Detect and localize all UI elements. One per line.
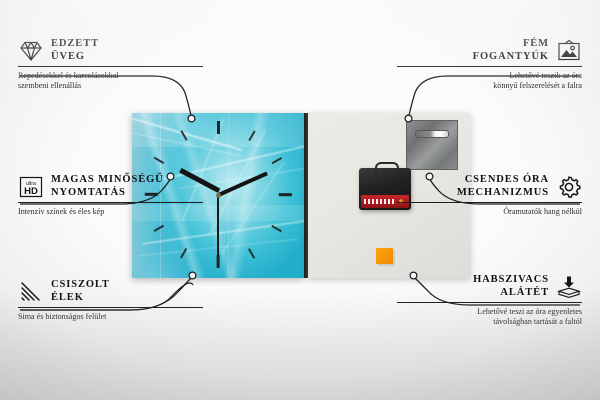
- callout-edges-title-1: CSISZOLT: [51, 279, 110, 292]
- callout-glass-title-2: ÜVEG: [51, 51, 99, 64]
- callout-glass-sub-2: szembeni ellenállás: [18, 81, 203, 91]
- callout-mechanism: CSENDES ÓRA MECHANIZMUS Óramutatók hang …: [397, 174, 582, 217]
- callout-edges-sub-1: Sima és biztonságos felület: [18, 312, 203, 322]
- callout-mechanism-title-2: MECHANIZMUS: [457, 187, 549, 200]
- callout-print-sub-1: Intenzív színek és éles kép: [18, 207, 203, 217]
- callout-foam-sub-1: Lehetővé teszi az óra egyenletes: [397, 307, 582, 317]
- svg-text:HD: HD: [24, 186, 38, 197]
- callout-glass-sub-1: Repedésekkel és karcolásokkal: [18, 71, 203, 81]
- callout-foam-title-2: ALÁTÉT: [473, 287, 549, 300]
- callout-foam-title-1: HABSZIVACS: [473, 274, 549, 287]
- callout-handle-sub-1: Lehetővé teszik az óra: [397, 71, 582, 81]
- clock-second-hand: [217, 196, 219, 258]
- foam-pad-icon: [556, 275, 582, 299]
- polished-edge-icon: [18, 280, 44, 304]
- foam-spacer-pad-part: [376, 248, 393, 264]
- callout-mechanism-title-1: CSENDES ÓRA: [457, 174, 549, 187]
- ultra-hd-icon: ultra HD: [18, 175, 44, 199]
- callout-mechanism-sub-1: Óramutatók hang nélkül: [397, 207, 582, 217]
- callout-foam: HABSZIVACS ALÁTÉT Lehetővé teszi az óra …: [397, 274, 582, 327]
- clock-center-cap: [216, 193, 221, 198]
- callout-rule: [18, 66, 203, 67]
- callout-foam-sub-2: távolságban tartását a faltól: [397, 317, 582, 327]
- picture-frame-icon: [556, 39, 582, 63]
- callout-handle-title-2: FOGANTYÚK: [473, 51, 549, 64]
- callout-glass-title-1: EDZETT: [51, 38, 99, 51]
- callout-print: ultra HD MAGAS MINŐSÉGŰ NYOMTATÁS Intenz…: [18, 174, 203, 217]
- diamond-icon: [18, 39, 44, 63]
- callout-handle-title-1: FÉM: [473, 38, 549, 51]
- callout-rule: [18, 202, 203, 203]
- hanger-slot: [415, 130, 449, 138]
- clock-tick: [279, 193, 292, 196]
- callout-rule: [397, 202, 582, 203]
- callout-edges: CSISZOLT ÉLEK Sima és biztonságos felüle…: [18, 279, 203, 322]
- product-infographic: +: [0, 0, 600, 400]
- callout-print-title-1: MAGAS MINŐSÉGŰ: [51, 174, 164, 187]
- callout-handle: FÉM FOGANTYÚK Lehetővé teszik az óra kön…: [397, 38, 582, 91]
- mechanism-loop: [375, 162, 399, 173]
- gear-icon: [556, 175, 582, 199]
- callout-glass: EDZETT ÜVEG Repedésekkel és karcolásokka…: [18, 38, 203, 91]
- callout-rule: [397, 302, 582, 303]
- battery-label-stripes: [364, 199, 394, 204]
- callout-rule: [18, 307, 203, 308]
- callout-rule: [397, 66, 582, 67]
- callout-print-title-2: NYOMTATÁS: [51, 187, 164, 200]
- clock-tick: [217, 121, 220, 134]
- callout-handle-sub-2: könnyű felszerelését a falra: [397, 81, 582, 91]
- metal-hanger-part: [406, 120, 458, 170]
- callout-edges-title-2: ÉLEK: [51, 292, 110, 305]
